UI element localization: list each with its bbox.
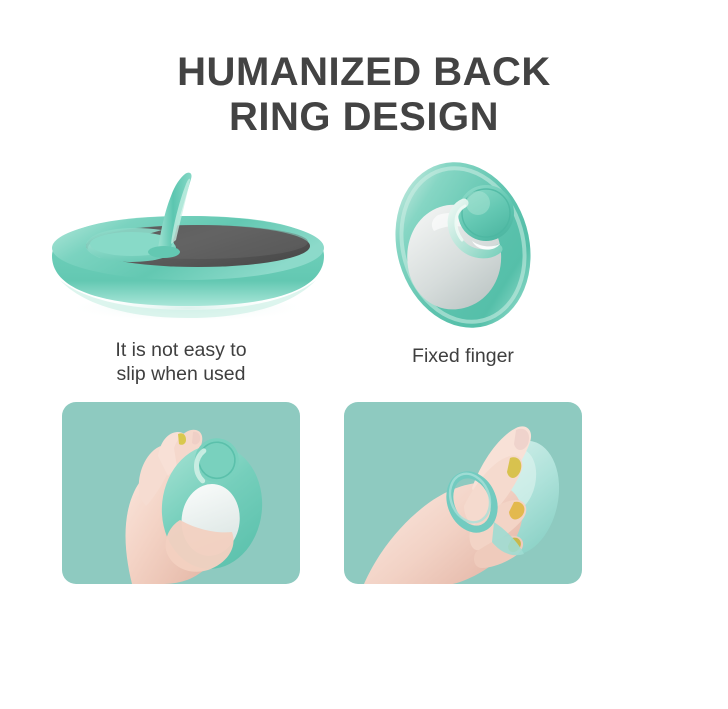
page-title-line-2: RING DESIGN: [0, 97, 728, 137]
ring-strap-foot: [148, 246, 180, 258]
hand-gripping-device-photo: [62, 402, 300, 584]
ring-button-disc-shine: [466, 191, 490, 215]
feature-caption-fixed-finger: Fixed finger: [344, 344, 582, 368]
hand-with-ring-on-finger-photo: [344, 402, 582, 584]
feature-caption-anti-slip: It is not easy to slip when used: [62, 338, 300, 386]
infographic-page: HUMANIZED BACK RING DESIGN: [0, 0, 728, 709]
ring-button-disc: [458, 185, 514, 241]
page-title-line-1: HUMANIZED BACK: [0, 52, 728, 92]
device-bottom-angle-with-raised-ring: [40, 160, 340, 325]
device-back-with-finger-ring: [368, 145, 558, 340]
page-title: HUMANIZED BACK RING DESIGN: [0, 52, 728, 137]
